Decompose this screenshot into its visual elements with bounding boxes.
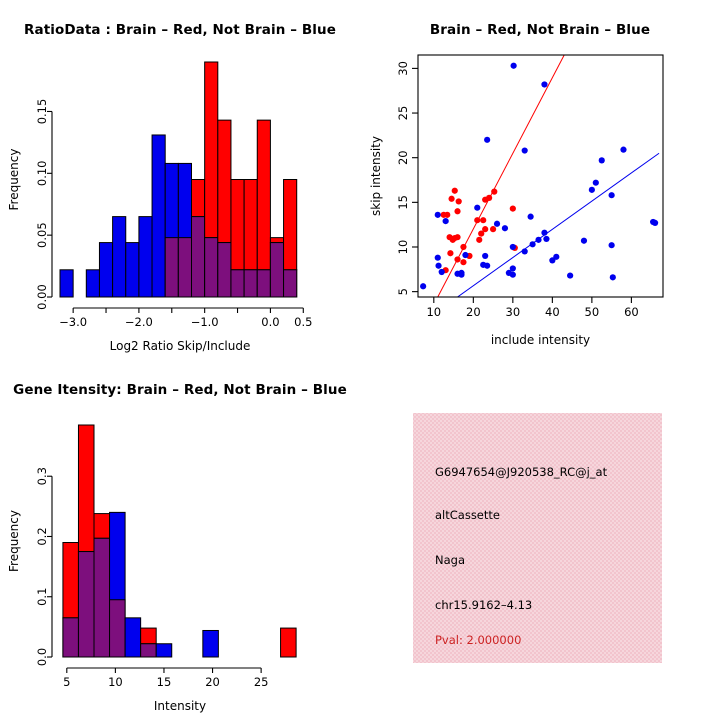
y-axis-tick-label: 0.15	[35, 99, 49, 125]
histogram-bar-overlap	[244, 270, 257, 297]
scatter-point	[529, 241, 535, 247]
histogram-bar-overlap	[218, 243, 231, 297]
x-axis-label: include intensity	[491, 333, 590, 347]
y-axis-tick-label: 0.00	[35, 284, 49, 310]
histogram-bar-blue	[86, 270, 99, 297]
scatter-point	[435, 212, 441, 218]
scatter-point	[482, 226, 488, 232]
scatter-point	[502, 225, 508, 231]
x-axis-tick-label: 10	[426, 305, 441, 319]
histogram-bar-blue	[126, 243, 139, 297]
scatter-point	[447, 234, 453, 240]
histogram-bar-overlap	[78, 552, 94, 657]
histogram-bar-blue	[125, 618, 141, 657]
scatter-point	[420, 283, 426, 289]
scatter-point	[609, 192, 615, 198]
ratio-histogram-plot: 0.000.050.100.15Frequency−3.0−2.0−1.00.0…	[0, 0, 360, 360]
scatter-point	[448, 196, 454, 202]
histogram-bar-red	[270, 238, 283, 243]
x-axis-tick-label: 30	[506, 305, 521, 319]
scatter-point	[435, 263, 441, 269]
scatter-point	[460, 244, 466, 250]
scatter-point	[510, 272, 516, 278]
histogram-bar-overlap	[192, 217, 205, 297]
gene-name-label: Naga	[435, 553, 465, 567]
scatter-point	[553, 254, 559, 260]
x-axis-tick-label: 5	[63, 675, 70, 689]
y-axis-tick-label: 25	[396, 106, 410, 121]
gene-intensity-histogram-title: Gene Itensity: Brain – Red, Not Brain – …	[0, 382, 360, 398]
scatter-point	[599, 157, 605, 163]
scatter-point	[435, 255, 441, 261]
scatter-point	[443, 218, 449, 224]
y-axis-tick-label: 0.10	[35, 161, 49, 187]
histogram-bar-overlap	[63, 618, 79, 657]
scatter-point	[541, 81, 547, 87]
histogram-bar-red	[231, 180, 244, 270]
x-axis-tick-label: −3.0	[59, 315, 87, 329]
scatter-point	[454, 256, 460, 262]
scatter-point	[510, 265, 516, 271]
scatter-point	[456, 198, 462, 204]
ratio-histogram-panel: RatioData : Brain – Red, Not Brain – Blu…	[0, 0, 360, 360]
histogram-bar-blue	[113, 217, 126, 297]
histogram-bar-overlap	[284, 270, 297, 297]
scatter-point	[476, 237, 482, 243]
intensity-scatter-plot: 51015202530skip intensity102030405060inc…	[360, 0, 720, 360]
histogram-bar-red	[63, 543, 79, 618]
histogram-bar-red	[141, 628, 157, 644]
histogram-bar-overlap	[270, 243, 283, 297]
x-axis-tick-label: −1.0	[191, 315, 219, 329]
pval-label: Pval: 2.000000	[435, 633, 521, 647]
y-axis-label: skip intensity	[369, 136, 383, 216]
scatter-point	[511, 63, 517, 69]
y-axis-label: Frequency	[7, 149, 21, 211]
y-axis-tick-label: 0.3	[35, 467, 49, 485]
scatter-point	[444, 212, 450, 218]
histogram-bar-red	[257, 120, 270, 270]
scatter-point	[510, 244, 516, 250]
scatter-point	[567, 272, 573, 278]
histogram-bar-overlap	[110, 600, 126, 657]
x-axis-tick-label: 15	[157, 675, 172, 689]
x-axis-tick-label: 60	[624, 305, 639, 319]
event-type-label: altCassette	[435, 508, 500, 522]
x-axis-tick-label: 25	[254, 675, 269, 689]
histogram-bar-red	[284, 180, 297, 270]
histogram-bar-blue	[203, 630, 219, 657]
x-axis-tick-label: 0.0	[261, 315, 279, 329]
x-axis-label: Log2 Ratio Skip/Include	[110, 339, 251, 353]
y-axis-tick-label: 30	[396, 61, 410, 76]
scatter-point	[491, 189, 497, 195]
x-axis-tick-label: 20	[205, 675, 220, 689]
scatter-point	[454, 208, 460, 214]
histogram-bar-red	[281, 628, 297, 657]
scatter-point	[541, 230, 547, 236]
histogram-bar-red	[205, 62, 218, 238]
intensity-scatter-panel: Brain – Red, Not Brain – Blue 5101520253…	[360, 0, 720, 360]
x-axis-tick-label: −2.0	[125, 315, 153, 329]
scatter-point	[474, 205, 480, 211]
scatter-point	[439, 269, 445, 275]
scatter-point	[543, 236, 549, 242]
y-axis-tick-label: 0.1	[35, 588, 49, 606]
y-axis-tick-label: 15	[396, 195, 410, 210]
scatter-point	[522, 248, 528, 254]
histogram-bar-overlap	[205, 238, 218, 297]
x-axis-tick-label: 10	[108, 675, 123, 689]
intensity-scatter-title: Brain – Red, Not Brain – Blue	[360, 22, 720, 38]
scatter-point	[593, 180, 599, 186]
histogram-bar-blue	[139, 217, 152, 297]
scatter-point	[484, 137, 490, 143]
scatter-point	[482, 253, 488, 259]
scatter-point	[458, 270, 464, 276]
y-axis-tick-label: 0.05	[35, 222, 49, 248]
gene-intensity-histogram-panel: Gene Itensity: Brain – Red, Not Brain – …	[0, 360, 360, 720]
scatter-point	[460, 259, 466, 265]
x-axis-tick-label: 0.5	[294, 315, 312, 329]
histogram-bar-blue	[152, 135, 165, 297]
scatter-point	[610, 274, 616, 280]
scatter-point	[490, 226, 496, 232]
y-axis-tick-label: 0.0	[35, 648, 49, 666]
scatter-point	[462, 252, 468, 258]
histogram-bar-blue	[60, 270, 73, 297]
not-brain-trend	[458, 153, 660, 297]
gene-info-panel: G6947654@J920538_RC@j_at altCassette Nag…	[413, 413, 662, 663]
y-axis-label: Frequency	[7, 510, 21, 572]
probe-id-label: G6947654@J920538_RC@j_at	[435, 465, 607, 479]
y-axis-tick-label: 5	[396, 288, 410, 295]
scatter-point	[528, 214, 534, 220]
histogram-bar-overlap	[165, 238, 178, 297]
scatter-point	[474, 217, 480, 223]
scatter-point	[652, 220, 658, 226]
scatter-point	[609, 242, 615, 248]
histogram-bar-red	[192, 180, 205, 217]
locus-label: chr15.9162–4.13	[435, 598, 532, 612]
scatter-point	[620, 147, 626, 153]
gene-intensity-histogram-plot: 0.00.10.20.3Frequency510152025Intensity	[0, 360, 360, 720]
x-axis-tick-label: 40	[545, 305, 560, 319]
histogram-bar-overlap	[94, 538, 110, 657]
scatter-point	[510, 205, 516, 211]
histogram-bar-blue	[156, 644, 172, 657]
histogram-bar-red	[218, 120, 231, 242]
scatter-point	[480, 217, 486, 223]
histogram-bar-overlap	[141, 644, 157, 657]
histogram-bar-overlap	[231, 270, 244, 297]
scatter-point	[589, 187, 595, 193]
histogram-bar-red	[78, 425, 94, 552]
histogram-bar-overlap	[178, 238, 191, 297]
x-axis-tick-label: 20	[466, 305, 481, 319]
histogram-bar-red	[94, 514, 110, 539]
ratio-histogram-title: RatioData : Brain – Red, Not Brain – Blu…	[0, 22, 360, 38]
scatter-point	[452, 188, 458, 194]
histogram-bar-blue	[99, 243, 112, 297]
scatter-point	[535, 237, 541, 243]
x-axis-label: Intensity	[154, 699, 206, 713]
y-axis-tick-label: 10	[396, 240, 410, 255]
scatter-point	[447, 250, 453, 256]
scatter-point	[484, 263, 490, 269]
y-axis-tick-label: 0.2	[35, 527, 49, 545]
x-axis-tick-label: 50	[585, 305, 600, 319]
scatter-point	[486, 195, 492, 201]
scatter-point	[522, 147, 528, 153]
histogram-bar-overlap	[257, 270, 270, 297]
scatter-point	[494, 221, 500, 227]
y-axis-tick-label: 20	[396, 150, 410, 165]
histogram-bar-red	[244, 180, 257, 270]
scatter-point	[581, 238, 587, 244]
